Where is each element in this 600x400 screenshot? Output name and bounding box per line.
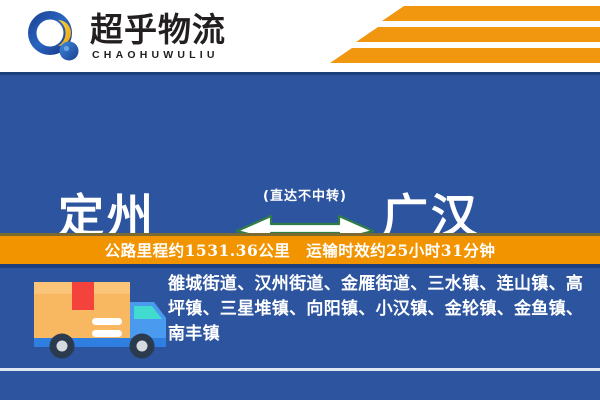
destination-section: 雒城街道、汉州街道、金雁街道、三水镇、连山镇、高坪镇、三星堆镇、向阳镇、小汉镇、… [0, 268, 600, 368]
direct-shipping-note: (直达不中转) [230, 185, 380, 204]
stripe-3 [330, 48, 600, 63]
delivery-truck-icon [28, 276, 170, 362]
route-section: 定州 (直达不中转) 【往返运输】 广汉 [0, 75, 600, 236]
stripe-2 [356, 27, 600, 42]
distance-text: 公路里程约1531.36公里 [105, 239, 291, 261]
header-bar: 超乎物流 CHAOHUWULIU [0, 0, 600, 72]
brand-name-cn: 超乎物流 [90, 13, 226, 48]
duration-text: 运输时效约25小时31分钟 [306, 239, 495, 261]
orange-stripes-decoration [330, 6, 600, 66]
brand-name-en: CHAOHUWULIU [92, 49, 226, 61]
stripe-1 [382, 6, 600, 21]
circle-crescent-logo-icon [24, 8, 82, 66]
service-areas-text: 雒城街道、汉州街道、金雁街道、三水镇、连山镇、高坪镇、三星堆镇、向阳镇、小汉镇、… [168, 272, 588, 347]
info-bar: 公路里程约1531.36公里 运输时效约25小时31分钟 [0, 236, 600, 264]
logistics-route-poster: 超乎物流 CHAOHUWULIU 定州 (直达不中转) 【往返运输】 广汉 公路… [0, 0, 600, 400]
brand-logo: 超乎物流 CHAOHUWULIU [24, 8, 226, 66]
brand-text-block: 超乎物流 CHAOHUWULIU [90, 13, 226, 62]
footer-area [0, 371, 600, 400]
